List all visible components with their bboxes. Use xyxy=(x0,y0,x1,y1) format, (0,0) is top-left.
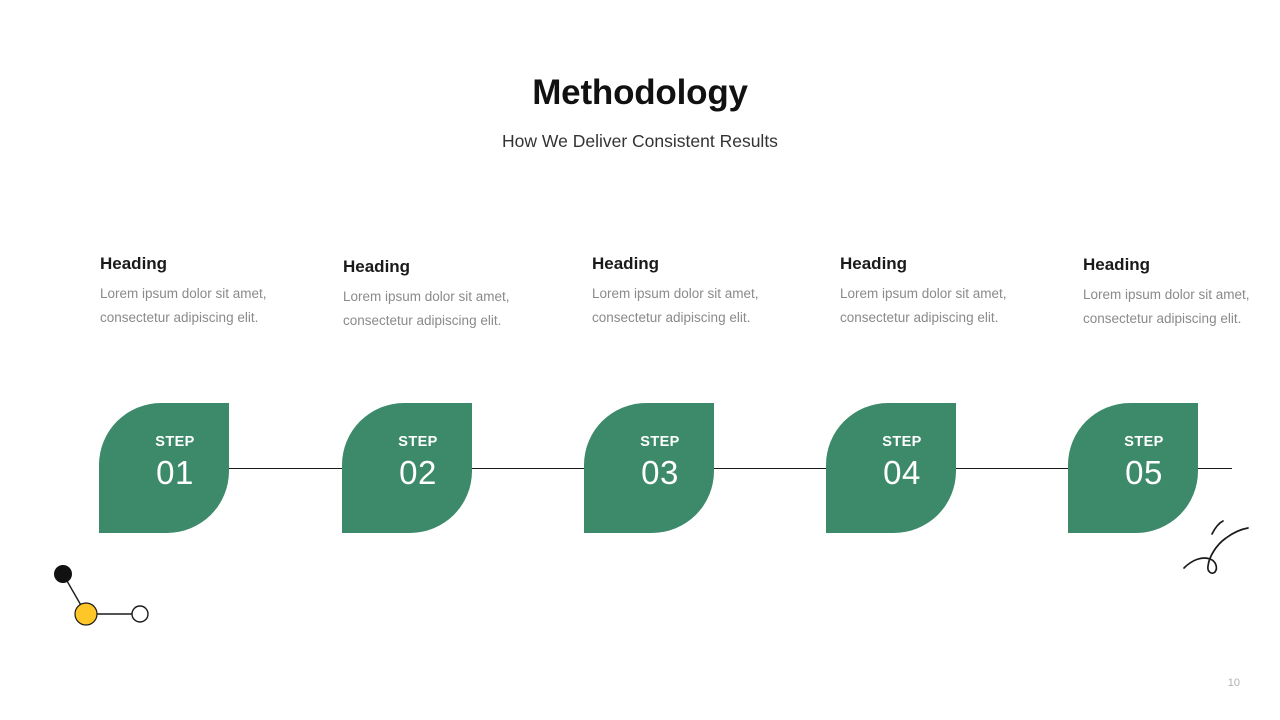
step-text-column-3: Heading Lorem ipsum dolor sit amet, cons… xyxy=(592,253,767,329)
step-body-5: Lorem ipsum dolor sit amet, consectetur … xyxy=(1083,283,1258,330)
node-filled-black xyxy=(54,565,72,583)
step-heading-4: Heading xyxy=(840,253,1015,274)
step-card-5-label: STEP xyxy=(1090,433,1198,452)
step-text-column-4: Heading Lorem ipsum dolor sit amet, cons… xyxy=(840,253,1015,329)
step-body-3: Lorem ipsum dolor sit amet, consectetur … xyxy=(592,282,767,329)
step-body-4: Lorem ipsum dolor sit amet, consectetur … xyxy=(840,282,1015,329)
squiggle-decoration xyxy=(1182,512,1262,587)
step-card-5-content: STEP 05 xyxy=(1068,433,1198,493)
page-number: 10 xyxy=(1228,678,1240,689)
step-heading-1: Heading xyxy=(100,253,275,274)
step-card-2-number: 02 xyxy=(364,452,472,493)
step-heading-2: Heading xyxy=(343,256,518,277)
step-card-3-content: STEP 03 xyxy=(584,433,714,493)
step-card-1-number: 01 xyxy=(121,452,229,493)
step-heading-5: Heading xyxy=(1083,254,1258,275)
step-body-1: Lorem ipsum dolor sit amet, consectetur … xyxy=(100,282,275,329)
step-card-2[interactable]: STEP 02 xyxy=(342,403,472,533)
step-heading-3: Heading xyxy=(592,253,767,274)
step-card-1-label: STEP xyxy=(121,433,229,452)
step-card-4-content: STEP 04 xyxy=(826,433,956,493)
page-title: Methodology xyxy=(0,74,1280,113)
step-card-3[interactable]: STEP 03 xyxy=(584,403,714,533)
step-card-4-label: STEP xyxy=(848,433,956,452)
node-hollow xyxy=(132,606,148,622)
page-subtitle: How We Deliver Consistent Results xyxy=(0,131,1280,152)
step-card-5-number: 05 xyxy=(1090,452,1198,493)
step-card-2-content: STEP 02 xyxy=(342,433,472,493)
step-card-4[interactable]: STEP 04 xyxy=(826,403,956,533)
step-text-column-5: Heading Lorem ipsum dolor sit amet, cons… xyxy=(1083,254,1258,330)
node-filled-yellow xyxy=(75,603,97,625)
step-card-3-label: STEP xyxy=(606,433,714,452)
step-card-2-label: STEP xyxy=(364,433,472,452)
node-graph-decoration xyxy=(44,556,154,641)
step-text-column-2: Heading Lorem ipsum dolor sit amet, cons… xyxy=(343,256,518,332)
step-text-column-1: Heading Lorem ipsum dolor sit amet, cons… xyxy=(100,253,275,329)
step-body-2: Lorem ipsum dolor sit amet, consectetur … xyxy=(343,285,518,332)
step-card-4-number: 04 xyxy=(848,452,956,493)
step-card-3-number: 03 xyxy=(606,452,714,493)
slide-canvas: Methodology How We Deliver Consistent Re… xyxy=(0,0,1280,720)
step-card-5[interactable]: STEP 05 xyxy=(1068,403,1198,533)
step-card-1[interactable]: STEP 01 xyxy=(99,403,229,533)
step-card-1-content: STEP 01 xyxy=(99,433,229,493)
